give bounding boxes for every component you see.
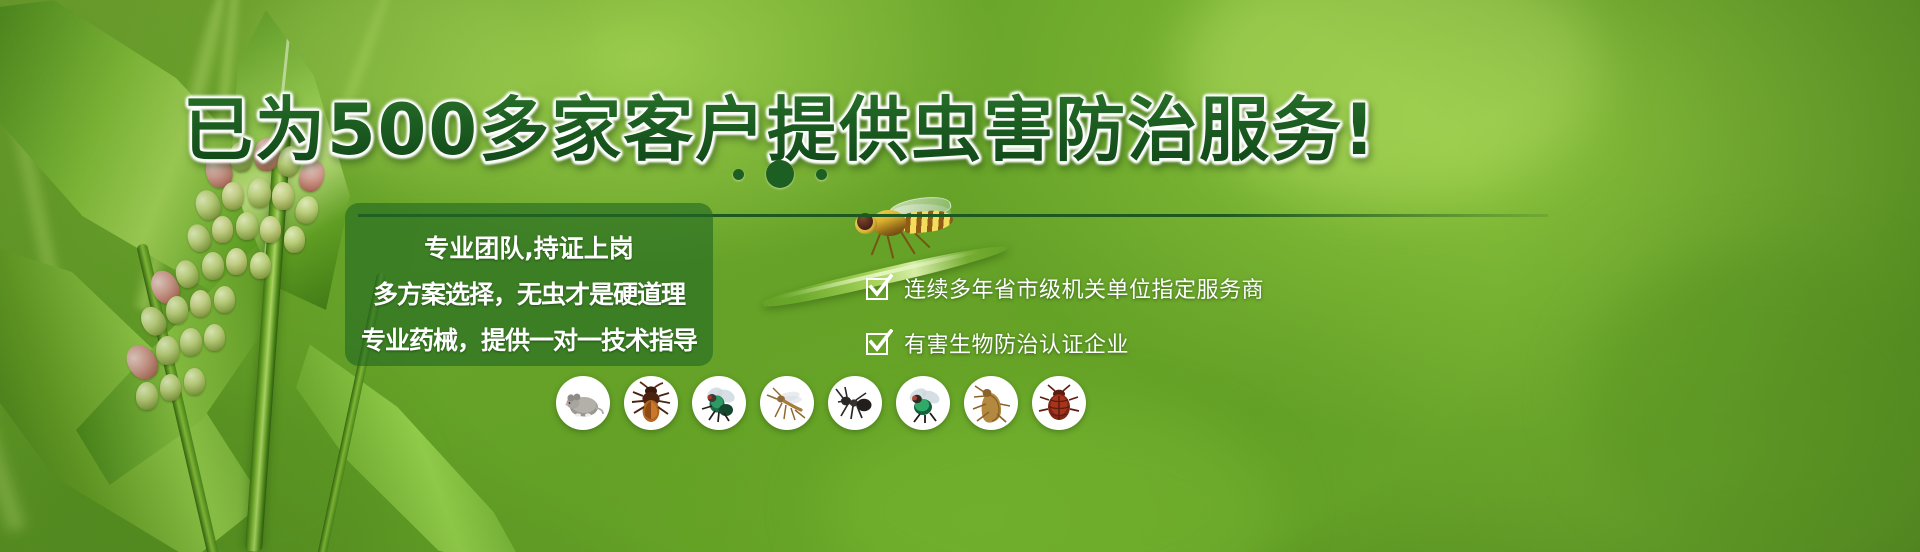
checklist-label-2: 有害生物防治认证企业 [904,327,1129,359]
checklist-label-1: 连续多年省市级机关单位指定服务商 [904,272,1264,304]
decor-dot-small-left [733,169,744,180]
mosquito-icon[interactable] [760,376,814,430]
selling-point-2: 多方案选择，无虫才是硬道理 [373,275,685,311]
selling-points-panel: 专业团队,持证上岗 多方案选择，无虫才是硬道理 专业药械，提供一对一技术指导 [345,203,713,366]
selling-point-3: 专业药械，提供一对一技术指导 [361,321,697,357]
selling-point-1: 专业团队,持证上岗 [424,229,634,265]
mouse-icon[interactable] [556,376,610,430]
checkbox-checked-icon [866,331,891,356]
ant-icon[interactable] [828,376,882,430]
decor-dot-small-right [816,169,827,180]
cockroach-icon[interactable] [624,376,678,430]
checklist-item-1: 连续多年省市级机关单位指定服务商 [866,272,1386,304]
checkbox-checked-icon [866,276,891,301]
decor-dot-large [766,160,794,188]
bedbug-icon[interactable] [1032,376,1086,430]
flea-icon[interactable] [964,376,1018,430]
decorative-dots [0,160,1560,188]
pest-control-hero-banner: 已为500多家客户提供虫害防治服务! 专业团队,持证上岗 多方案选择，无虫才是硬… [0,0,1920,552]
pest-icon-row [556,376,1086,430]
blowfly-icon[interactable] [896,376,950,430]
housefly-icon[interactable] [692,376,746,430]
credentials-checklist: 连续多年省市级机关单位指定服务商 有害生物防治认证企业 [866,272,1386,359]
checklist-item-2: 有害生物防治认证企业 [866,327,1386,359]
